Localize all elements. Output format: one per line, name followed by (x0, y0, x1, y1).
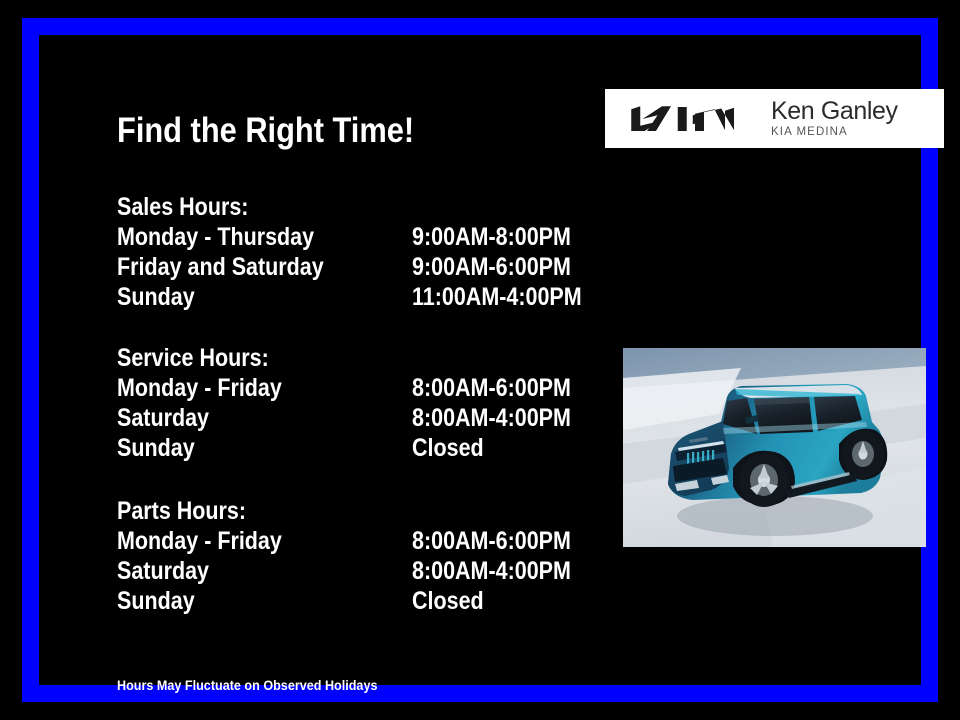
parts-row-time: Closed (412, 586, 484, 616)
holiday-disclaimer: Hours May Fluctuate on Observed Holidays (117, 676, 377, 694)
dealer-name-text: Ken Ganley (771, 99, 898, 124)
service-hours-title: Service Hours: (117, 343, 269, 373)
service-row-time: Closed (412, 433, 484, 463)
service-row-time: 8:00AM-4:00PM (412, 403, 571, 433)
sales-hours-title: Sales Hours: (117, 192, 248, 222)
vehicle-photo (623, 348, 926, 547)
slide-canvas: Find the Right Time! Sales Hours: Monday… (0, 0, 960, 720)
parts-row-time: 8:00AM-4:00PM (412, 556, 571, 586)
service-row-day: Saturday (117, 403, 209, 433)
sales-row-day: Monday - Thursday (117, 222, 314, 252)
service-hours-row: Monday - Friday 8:00AM-6:00PM (117, 373, 293, 403)
service-hours-row: Saturday 8:00AM-4:00PM (117, 403, 293, 433)
parts-row-time: 8:00AM-6:00PM (412, 526, 571, 556)
sales-row-time: 11:00AM-4:00PM (412, 282, 582, 312)
parts-row-day: Monday - Friday (117, 526, 282, 556)
sales-row-day: Sunday (117, 282, 195, 312)
parts-row-day: Sunday (117, 586, 195, 616)
sales-row-time: 9:00AM-6:00PM (412, 252, 571, 282)
kia-logo-icon (621, 104, 745, 134)
page-title: Find the Right Time! (117, 111, 414, 151)
parts-hours-row: Saturday 8:00AM-4:00PM (117, 556, 267, 586)
service-row-time: 8:00AM-6:00PM (412, 373, 571, 403)
parts-hours-title: Parts Hours: (117, 496, 246, 526)
service-row-day: Sunday (117, 433, 195, 463)
sales-row-day: Friday and Saturday (117, 252, 324, 282)
service-hours-row: Sunday Closed (117, 433, 293, 463)
dealer-logo-panel: Ken Ganley KIA MEDINA (605, 89, 944, 148)
slide-content-panel: Find the Right Time! Sales Hours: Monday… (39, 35, 921, 685)
service-hours-block: Service Hours: Monday - Friday 8:00AM-6:… (117, 343, 293, 463)
parts-row-day: Saturday (117, 556, 209, 586)
parts-hours-row: Monday - Friday 8:00AM-6:00PM (117, 526, 267, 556)
blue-border-frame: Find the Right Time! Sales Hours: Monday… (22, 18, 938, 702)
dealer-name-group: Ken Ganley KIA MEDINA (771, 99, 898, 139)
parts-hours-row: Sunday Closed (117, 586, 267, 616)
sales-hours-block: Sales Hours: Monday - Thursday 9:00AM-8:… (117, 192, 270, 312)
dealer-location-text: KIA MEDINA (771, 127, 898, 139)
sales-hours-row: Friday and Saturday 9:00AM-6:00PM (117, 252, 270, 282)
sales-hours-row: Sunday 11:00AM-4:00PM (117, 282, 270, 312)
service-row-day: Monday - Friday (117, 373, 282, 403)
parts-hours-block: Parts Hours: Monday - Friday 8:00AM-6:00… (117, 496, 267, 616)
sales-row-time: 9:00AM-8:00PM (412, 222, 571, 252)
sales-hours-row: Monday - Thursday 9:00AM-8:00PM (117, 222, 270, 252)
